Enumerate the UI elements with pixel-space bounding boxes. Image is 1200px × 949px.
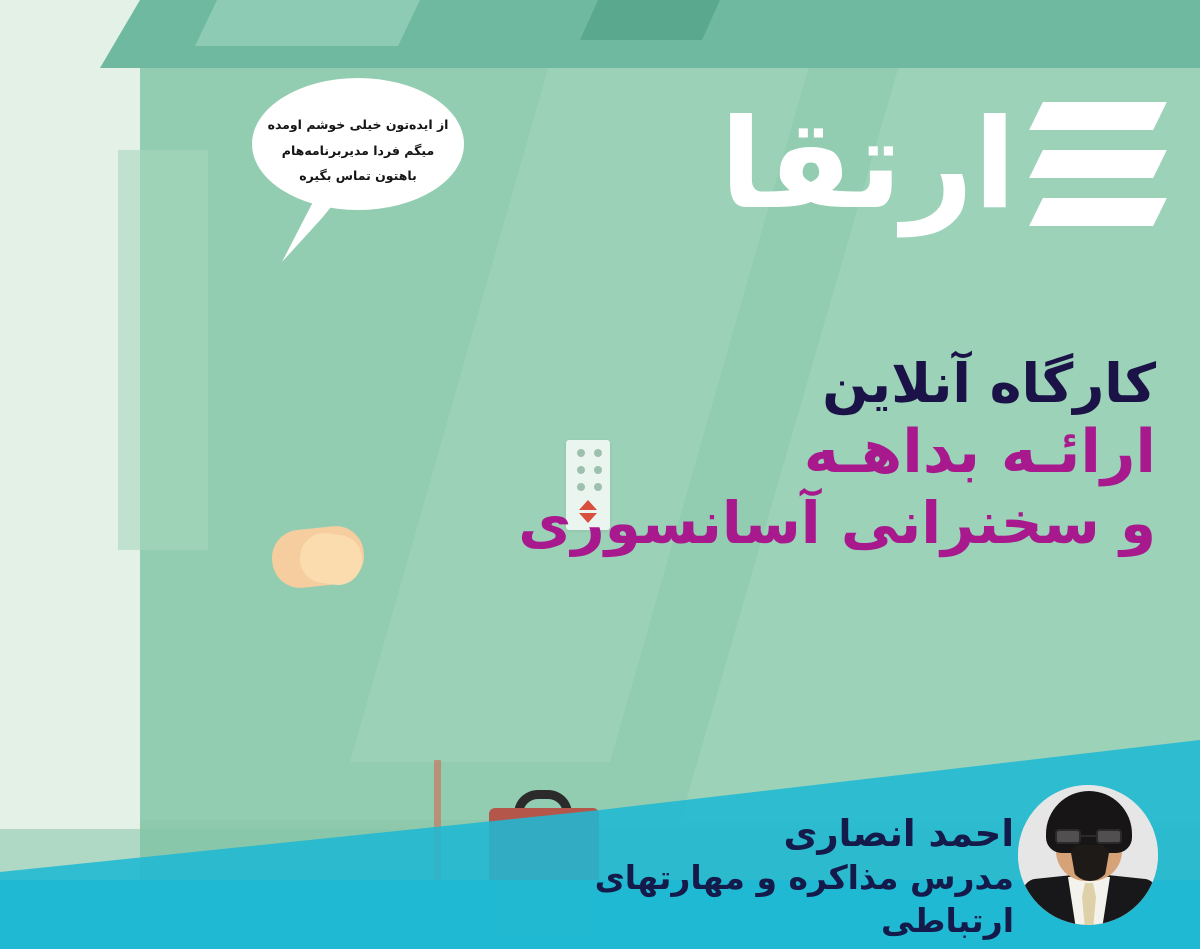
avatar-tie [1082,883,1096,925]
speech-line-3: باهتون تماس بگیره [299,170,417,183]
poster-canvas: از ایده‌تون خیلی خوشم اومده میگم فردا مد… [0,0,1200,949]
speaker-role: مدرس مذاکره و مهارتهای ارتباطی [454,857,1014,941]
glasses-lens-left [1055,829,1081,844]
speaker-info: احمد انصاری مدرس مذاکره و مهارتهای ارتبا… [454,810,1014,942]
glasses-icon [1054,829,1124,844]
three-slanted-bars-icon [1032,96,1160,236]
speaker-name: احمد انصاری [454,810,1014,857]
speech-bubble-text: از ایده‌تون خیلی خوشم اومده میگم فردا مد… [252,96,464,206]
logo-bar [1029,102,1167,130]
brand-logo-text: ارتقا [720,107,1016,225]
title-line-elevator-pitch: و سخنرانی آسانسوری [496,489,1156,559]
poster-title-block: کارگاه آنلاین ارائـه بداهـه و سخنرانی آس… [496,352,1156,559]
ceiling-light-panel [195,0,420,46]
title-line-workshop: کارگاه آنلاین [496,352,1156,416]
glasses-lens-right [1096,829,1122,844]
speech-line-2: میگم فردا مدیربرنامه‌هام [282,145,434,158]
speech-line-1: از ایده‌تون خیلی خوشم اومده [268,119,449,132]
brand-logo[interactable]: ارتقا [720,96,1160,236]
speaker-avatar [1018,785,1158,925]
wall-corner-shadow [118,150,208,550]
title-line-improv: ارائـه بداهـه [496,416,1156,489]
logo-bar [1029,198,1167,226]
logo-bar [1029,150,1167,178]
avatar-mustache [1074,845,1106,853]
glasses-bridge [1081,835,1096,837]
ceiling-strip [580,0,720,40]
